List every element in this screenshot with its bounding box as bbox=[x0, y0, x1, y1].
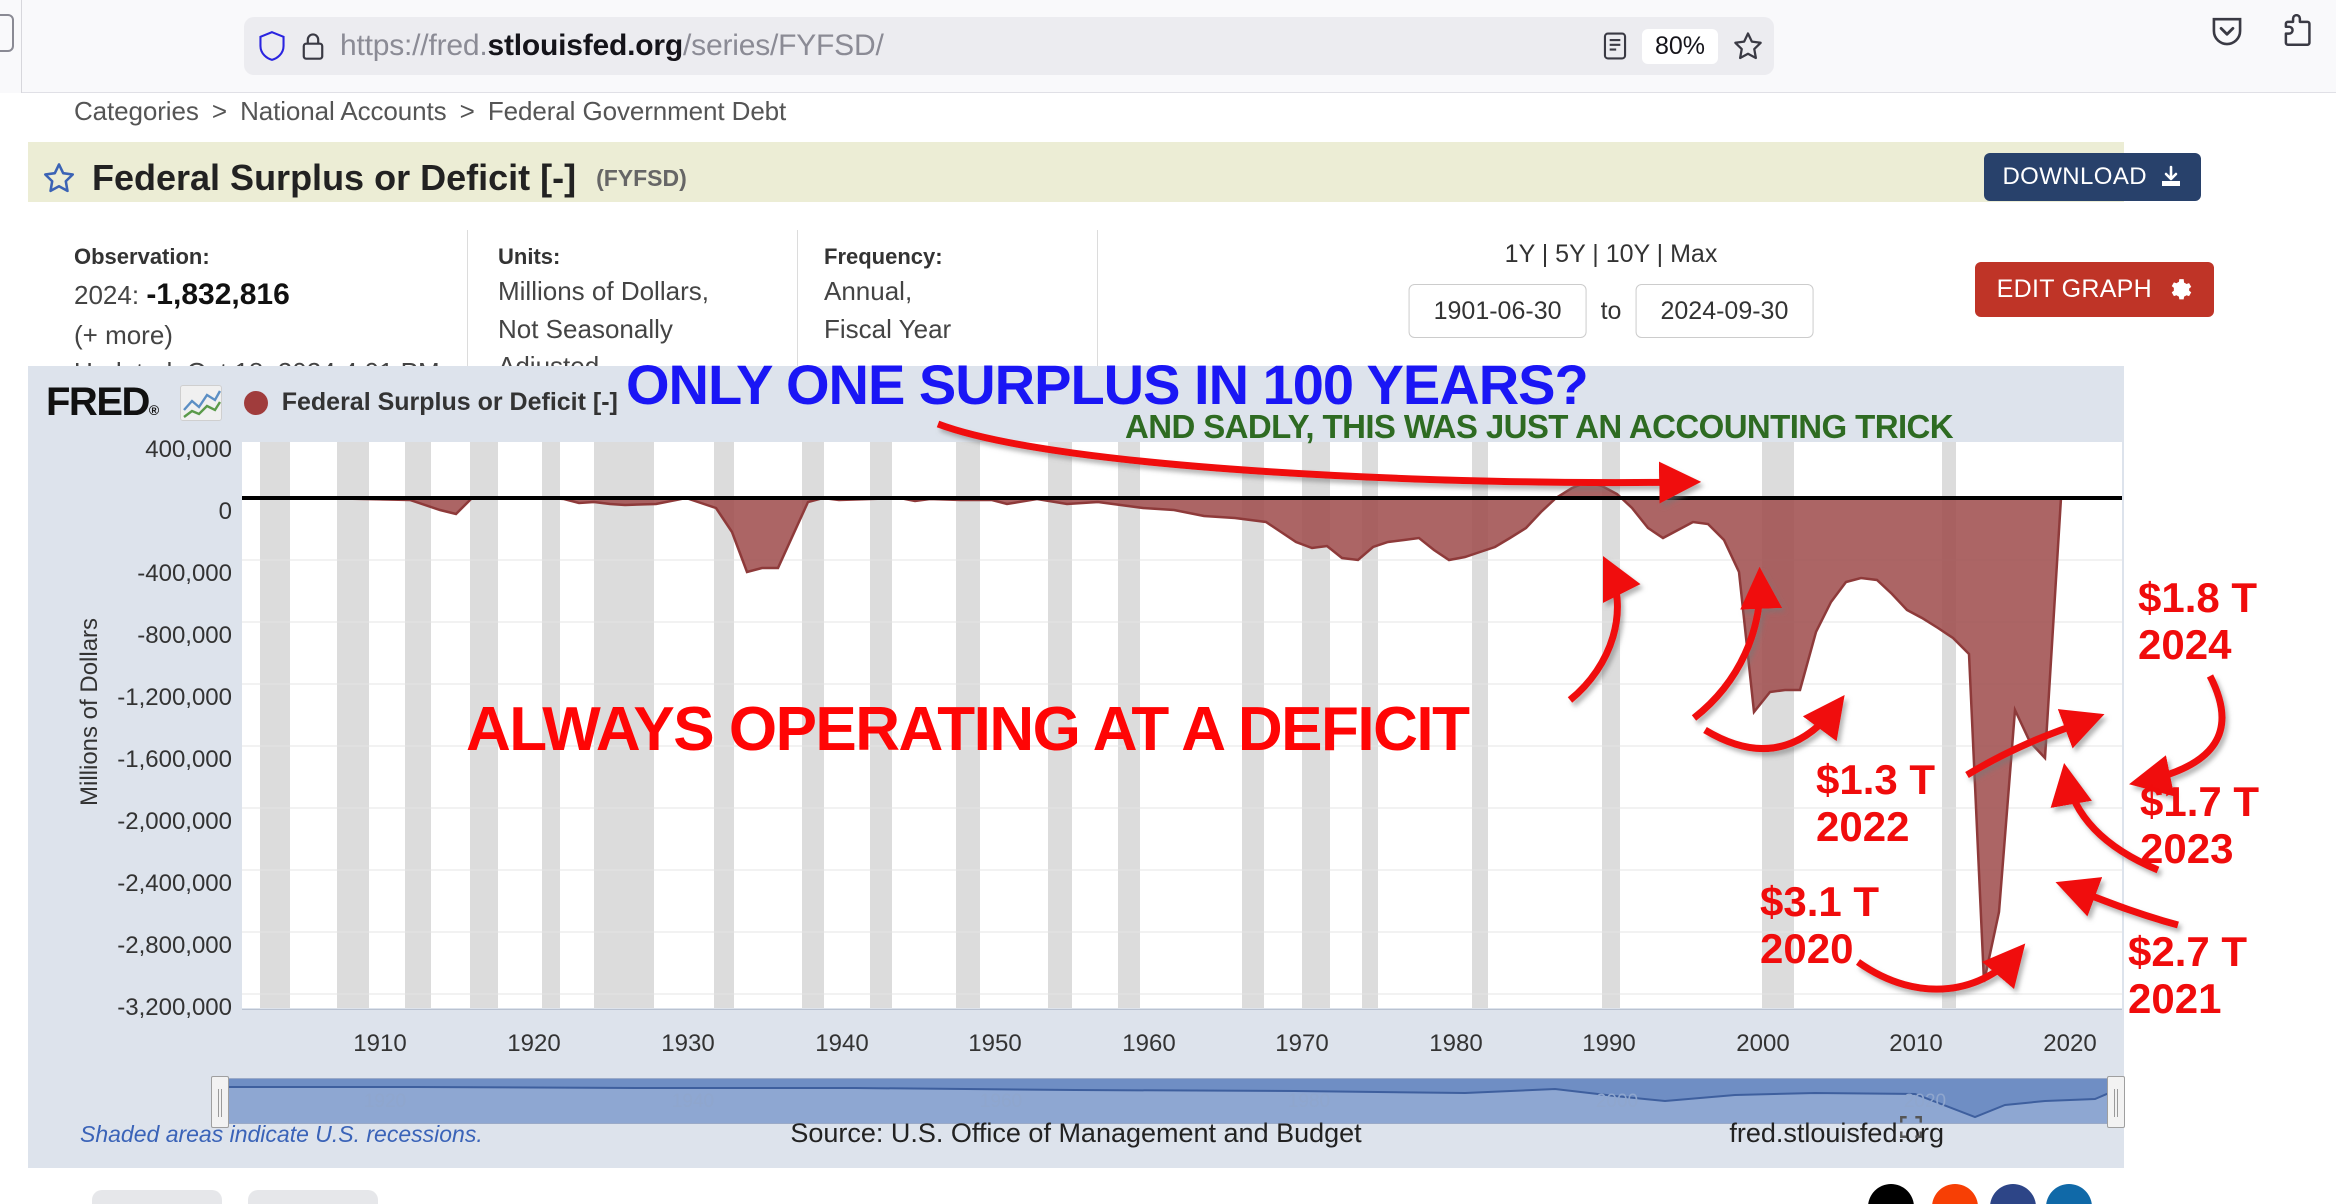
date-to-label: to bbox=[1601, 297, 1622, 326]
y-tick: -3,200,000 bbox=[32, 994, 232, 1022]
edit-graph-label: EDIT GRAPH bbox=[1997, 275, 2152, 304]
y-tick: 0 bbox=[32, 498, 232, 526]
navigator-year: 2000 bbox=[1596, 1091, 1638, 1113]
x-tick: 1920 bbox=[507, 1030, 560, 1058]
observation-year: 2024: bbox=[74, 280, 139, 310]
navigator-handle-right[interactable] bbox=[2107, 1076, 2125, 1128]
navigator-year: 1920 bbox=[364, 1091, 406, 1113]
frequency-line-1: Annual, bbox=[824, 273, 1070, 311]
x-axis-ticks: 1910 1920 1930 1940 1950 1960 1970 1980 … bbox=[242, 1016, 2122, 1056]
range-inputs: 1901-06-30 to 2024-09-30 bbox=[1409, 284, 1814, 338]
sparkline-icon bbox=[180, 385, 222, 421]
download-icon bbox=[2159, 164, 2183, 190]
x-tick: 1950 bbox=[968, 1030, 1021, 1058]
date-range-controls: 1Y | 5Y | 10Y | Max 1901-06-30 to 2024-0… bbox=[1098, 234, 2124, 354]
shield-icon[interactable] bbox=[258, 31, 286, 61]
more-link[interactable]: (+ more) bbox=[74, 317, 440, 355]
units-line-1: Millions of Dollars, bbox=[498, 273, 770, 311]
gear-icon bbox=[2166, 277, 2192, 303]
x-tick: 1930 bbox=[661, 1030, 714, 1058]
x-tick: 1980 bbox=[1429, 1030, 1482, 1058]
y-tick: -2,400,000 bbox=[32, 870, 232, 898]
y-tick: -2,000,000 bbox=[32, 808, 232, 836]
url-text[interactable]: https://fred.stlouisfed.org/series/FYFSD… bbox=[340, 29, 884, 63]
download-button-label: DOWNLOAD bbox=[2002, 163, 2147, 191]
chart-legend[interactable]: Federal Surplus or Deficit [-] bbox=[244, 388, 618, 417]
download-button[interactable]: DOWNLOAD bbox=[1984, 153, 2201, 201]
tab-strip-edge bbox=[0, 0, 22, 93]
meta-frequency: Frequency: Annual, Fiscal Year bbox=[798, 234, 1098, 354]
legend-series-label: Federal Surplus or Deficit [-] bbox=[282, 388, 618, 417]
x-tick: 1940 bbox=[815, 1030, 868, 1058]
fred-graph-panel: FRED® Federal Surplus or Deficit [-] Mil… bbox=[28, 366, 2124, 1168]
share-linkedin-icon[interactable] bbox=[2046, 1184, 2092, 1204]
observation-label: Observation: bbox=[74, 240, 440, 273]
recession-bands bbox=[260, 442, 1956, 1008]
y-tick: -1,600,000 bbox=[32, 746, 232, 774]
star-outline-icon[interactable] bbox=[42, 161, 76, 195]
toolbar-right-icons bbox=[2210, 14, 2314, 48]
y-tick: -2,800,000 bbox=[32, 932, 232, 960]
navigator-year: 1960 bbox=[980, 1091, 1022, 1113]
extensions-icon[interactable] bbox=[2280, 14, 2314, 48]
observation-value: -1,832,816 bbox=[146, 278, 289, 311]
address-bar[interactable]: https://fred.stlouisfed.org/series/FYFSD… bbox=[244, 17, 1774, 75]
browser-toolbar: https://fred.stlouisfed.org/series/FYFSD… bbox=[0, 0, 2336, 93]
observation-value-row: 2024: -1,832,816 bbox=[74, 273, 440, 317]
series-meta: Observation: 2024: -1,832,816 (+ more) U… bbox=[28, 234, 2124, 354]
range-presets[interactable]: 1Y | 5Y | 10Y | Max bbox=[1505, 240, 1718, 269]
page-title: Federal Surplus or Deficit [-] bbox=[92, 157, 576, 199]
fred-logo: FRED® bbox=[46, 380, 158, 425]
x-axis-line bbox=[242, 1009, 2122, 1010]
x-tick: 2010 bbox=[1889, 1030, 1942, 1058]
x-tick: 2020 bbox=[2043, 1030, 2096, 1058]
pocket-icon[interactable] bbox=[2210, 14, 2244, 48]
y-axis-ticks: 400,000 0 -400,000 -800,000 -1,200,000 -… bbox=[28, 442, 232, 1008]
fullscreen-icon[interactable] bbox=[1898, 1114, 1924, 1140]
x-tick: 1960 bbox=[1122, 1030, 1175, 1058]
y-tick: 400,000 bbox=[32, 436, 232, 464]
breadcrumb-national-accounts[interactable]: National Accounts bbox=[240, 96, 446, 126]
breadcrumb-separator: > bbox=[460, 96, 475, 126]
y-tick: -800,000 bbox=[32, 622, 232, 650]
navigator-year: 1980 bbox=[1288, 1091, 1330, 1113]
meta-units: Units: Millions of Dollars, Not Seasonal… bbox=[468, 234, 798, 354]
page-bottom-button-stub[interactable] bbox=[92, 1190, 222, 1204]
zoom-level-indicator[interactable]: 80% bbox=[1642, 29, 1718, 64]
page-root: https://fred.stlouisfed.org/series/FYFSD… bbox=[0, 0, 2336, 1204]
series-id: (FYFSD) bbox=[596, 165, 687, 192]
breadcrumb-federal-government-debt[interactable]: Federal Government Debt bbox=[488, 96, 786, 126]
date-from-input[interactable]: 1901-06-30 bbox=[1409, 284, 1587, 338]
units-label: Units: bbox=[498, 240, 770, 273]
callout-2023: $1.7 T 2023 bbox=[2140, 778, 2259, 872]
chart-plot-area[interactable] bbox=[242, 442, 2122, 1008]
reader-view-icon[interactable] bbox=[1602, 30, 1628, 62]
callout-2021: $2.7 T 2021 bbox=[2128, 928, 2247, 1022]
share-facebook-icon[interactable] bbox=[1990, 1184, 2036, 1204]
breadcrumb: Categories > National Accounts > Federal… bbox=[74, 96, 786, 127]
x-tick: 2000 bbox=[1736, 1030, 1789, 1058]
edit-graph-button[interactable]: EDIT GRAPH bbox=[1975, 262, 2214, 317]
legend-color-dot bbox=[244, 391, 268, 415]
bookmark-star-icon[interactable] bbox=[1732, 30, 1764, 62]
x-tick: 1970 bbox=[1275, 1030, 1328, 1058]
callout-2024: $1.8 T 2024 bbox=[2138, 574, 2257, 668]
share-x-icon[interactable] bbox=[1868, 1184, 1914, 1204]
lock-icon[interactable] bbox=[300, 31, 326, 61]
frequency-label: Frequency: bbox=[824, 240, 1070, 273]
address-bar-actions: 80% bbox=[1602, 25, 1764, 67]
meta-observation: Observation: 2024: -1,832,816 (+ more) U… bbox=[28, 234, 468, 354]
breadcrumb-separator: > bbox=[212, 96, 227, 126]
x-tick: 1910 bbox=[353, 1030, 406, 1058]
y-tick: -1,200,000 bbox=[32, 684, 232, 712]
page-bottom-button-stub2[interactable] bbox=[248, 1190, 378, 1204]
navigator-preview bbox=[215, 1079, 2121, 1123]
recession-note: Shaded areas indicate U.S. recessions. bbox=[80, 1121, 483, 1148]
fred-graph-header: FRED® Federal Surplus or Deficit [-] bbox=[46, 380, 618, 425]
x-tick: 1990 bbox=[1582, 1030, 1635, 1058]
y-tick: -400,000 bbox=[32, 560, 232, 588]
frequency-line-2: Fiscal Year bbox=[824, 311, 1070, 349]
navigator-year: 2020 bbox=[1904, 1091, 1946, 1113]
navigator-year: 1940 bbox=[672, 1091, 714, 1113]
date-to-input[interactable]: 2024-09-30 bbox=[1635, 284, 1813, 338]
source-note: Source: U.S. Office of Management and Bu… bbox=[790, 1118, 1361, 1149]
series-title-row: Federal Surplus or Deficit [-] (FYFSD) bbox=[28, 150, 2124, 206]
breadcrumb-categories[interactable]: Categories bbox=[74, 96, 199, 126]
share-reddit-icon[interactable] bbox=[1932, 1184, 1978, 1204]
chart-area-series bbox=[242, 482, 2122, 982]
chart-svg bbox=[242, 442, 2122, 1008]
